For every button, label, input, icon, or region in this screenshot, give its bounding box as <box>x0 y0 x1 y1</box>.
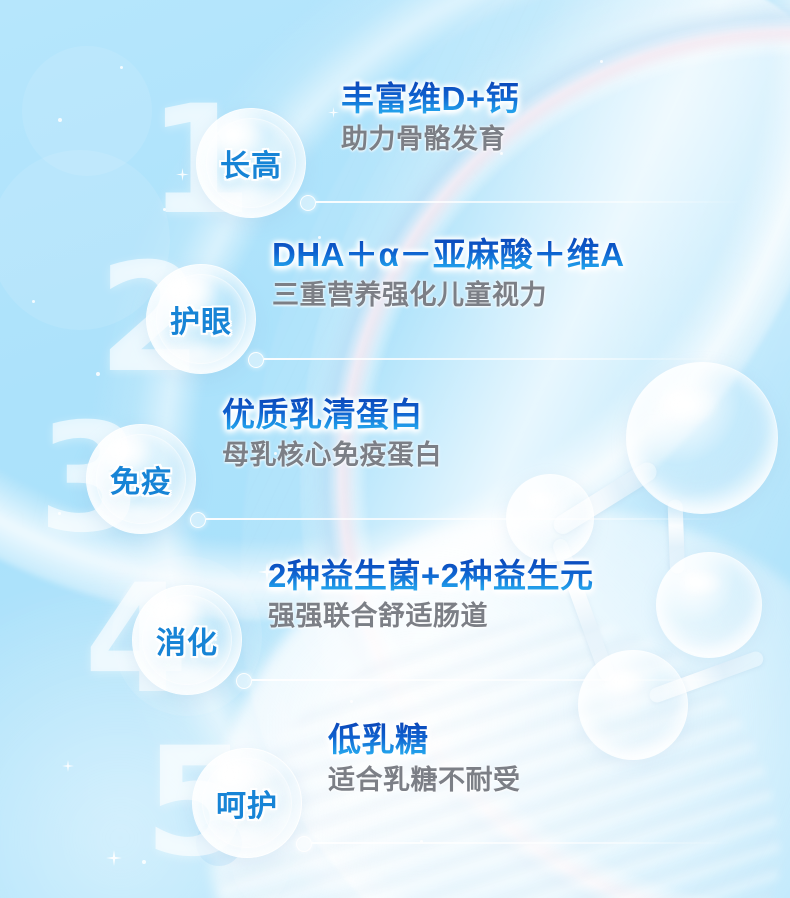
feature-row: 3 免疫 优质乳清蛋白 母乳核心免疫蛋白 <box>0 372 790 532</box>
feature-headline: 2种益生菌+2种益生元 <box>268 558 593 595</box>
feature-subline: 适合乳糖不耐受 <box>328 765 521 796</box>
feature-subline: 助力骨骼发育 <box>341 124 519 155</box>
feature-bubble-badge[interactable]: 长高 <box>196 108 306 218</box>
feature-headline: 丰富维D+钙 <box>341 81 519 118</box>
product-feature-poster: 1 长高 丰富维D+钙 助力骨骼发育 2 护眼 DHA＋α－亚麻酸＋维A 三重营… <box>0 0 790 898</box>
feature-badge-label: 呵护 <box>193 749 301 857</box>
feature-text-block: DHA＋α－亚麻酸＋维A 三重营养强化儿童视力 <box>272 237 625 311</box>
feature-subline: 强强联合舒适肠道 <box>268 601 593 632</box>
feature-bubble-badge[interactable]: 护眼 <box>146 264 256 374</box>
feature-bubble-badge[interactable]: 免疫 <box>86 424 196 534</box>
feature-badge-label: 消化 <box>133 586 241 694</box>
connector-line <box>252 679 732 681</box>
feature-text-block: 低乳糖 适合乳糖不耐受 <box>328 722 521 796</box>
connector-line <box>264 358 734 360</box>
feature-row: 4 消化 2种益生菌+2种益生元 强强联合舒适肠道 <box>0 535 790 695</box>
connector-line <box>206 518 726 520</box>
feature-badge-label: 护眼 <box>147 265 255 373</box>
connector-line <box>316 201 746 203</box>
feature-row: 5 呵护 低乳糖 适合乳糖不耐受 <box>0 700 790 860</box>
feature-text-block: 2种益生菌+2种益生元 强强联合舒适肠道 <box>268 558 593 632</box>
feature-headline: DHA＋α－亚麻酸＋维A <box>272 237 625 274</box>
feature-subline: 三重营养强化儿童视力 <box>272 280 625 311</box>
feature-bubble-badge[interactable]: 呵护 <box>192 748 302 858</box>
feature-row: 1 长高 丰富维D+钙 助力骨骼发育 <box>0 48 790 208</box>
feature-text-block: 优质乳清蛋白 母乳核心免疫蛋白 <box>222 397 442 471</box>
feature-headline: 优质乳清蛋白 <box>222 397 442 434</box>
feature-text-block: 丰富维D+钙 助力骨骼发育 <box>341 81 519 155</box>
feature-badge-label: 免疫 <box>87 425 195 533</box>
connector-line <box>312 842 732 844</box>
feature-row: 2 护眼 DHA＋α－亚麻酸＋维A 三重营养强化儿童视力 <box>0 212 790 372</box>
feature-headline: 低乳糖 <box>328 722 521 759</box>
feature-bubble-badge[interactable]: 消化 <box>132 585 242 695</box>
feature-subline: 母乳核心免疫蛋白 <box>222 440 442 471</box>
feature-badge-label: 长高 <box>197 109 305 217</box>
